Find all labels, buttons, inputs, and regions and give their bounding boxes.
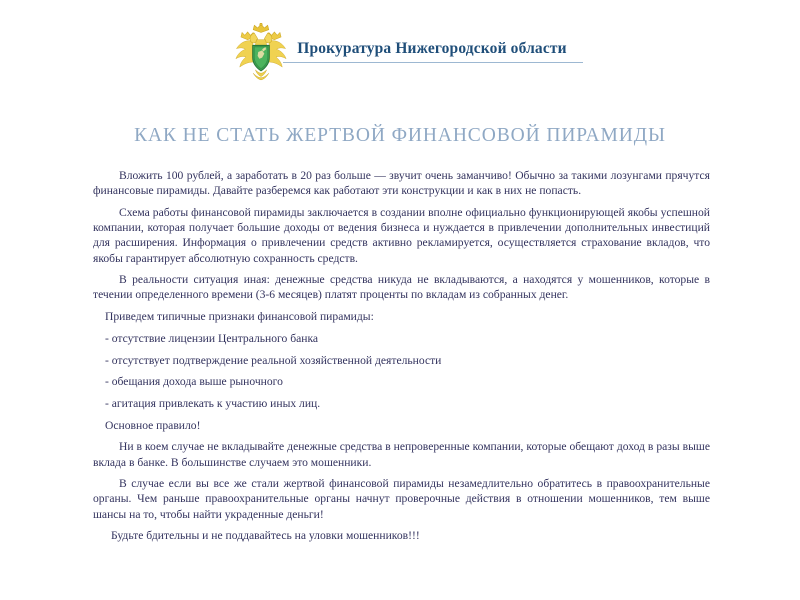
sign-item-1: - отсутствие лицензии Центрального банка <box>93 331 710 346</box>
header: Прокуратура Нижегородской области <box>0 22 800 80</box>
advice-text: В случае если вы все же стали жертвой фи… <box>93 476 710 522</box>
header-text-wrap: Прокуратура Нижегородской области <box>297 39 566 63</box>
main-rule-text: Ни в коем случае не вкладывайте денежные… <box>93 439 710 469</box>
sign-item-4: - агитация привлекать к участию иных лиц… <box>93 396 710 411</box>
russian-prosecutor-emblem-icon <box>233 23 289 81</box>
header-inner: Прокуратура Нижегородской области <box>233 22 566 80</box>
sign-item-3: - обещания дохода выше рыночного <box>93 374 710 389</box>
page-title: КАК НЕ СТАТЬ ЖЕРТВОЙ ФИНАНСОВОЙ ПИРАМИДЫ <box>0 125 800 147</box>
header-divider <box>283 62 582 63</box>
signs-lead: Приведем типичные признаки финансовой пи… <box>93 309 710 324</box>
paragraph-intro: Вложить 100 рублей, а заработать в 20 ра… <box>93 168 710 198</box>
sign-item-2: - отсутствует подтверждение реальной хоз… <box>93 353 710 368</box>
paragraph-scheme: Схема работы финансовой пирамиды заключа… <box>93 205 710 266</box>
header-organization-title: Прокуратура Нижегородской области <box>297 39 566 59</box>
document-body: Вложить 100 рублей, а заработать в 20 ра… <box>93 168 710 544</box>
paragraph-reality: В реальности ситуация иная: денежные сре… <box>93 272 710 302</box>
main-rule-label: Основное правило! <box>93 418 710 433</box>
slide-root: Прокуратура Нижегородской области КАК НЕ… <box>0 0 800 600</box>
closing-text: Будьте бдительны и не поддавайтесь на ул… <box>93 528 710 543</box>
